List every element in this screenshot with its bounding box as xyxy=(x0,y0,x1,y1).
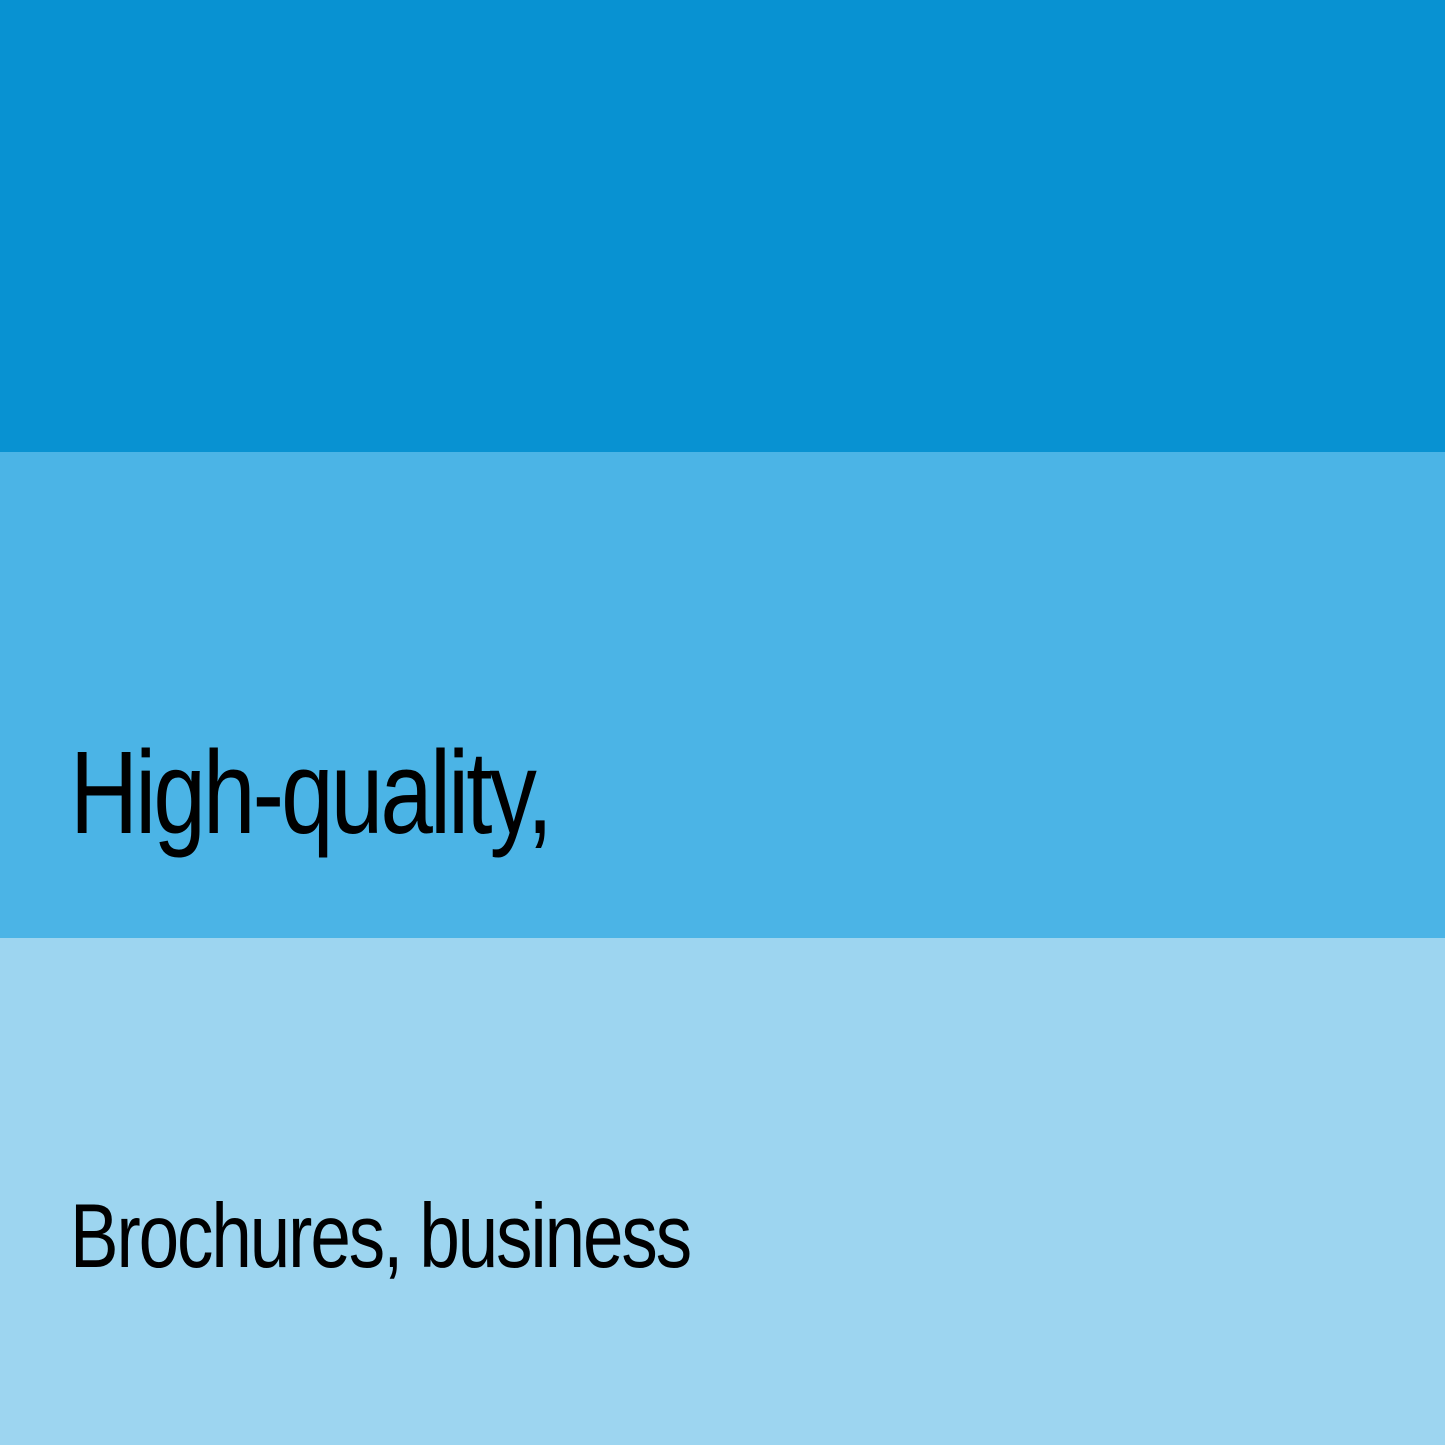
subheadline-line-1: High-quality, xyxy=(70,734,740,852)
headline-line-1: Perfect for xyxy=(70,434,730,452)
detail-band: Brochures, business documents, presentat… xyxy=(0,938,1445,1445)
detail-line-1: Brochures, business xyxy=(70,1188,854,1285)
detail-text: Brochures, business documents, presentat… xyxy=(70,994,854,1445)
headline-band: Perfect for home office xyxy=(0,0,1445,452)
promo-poster: Perfect for home office High-quality, bl… xyxy=(0,0,1445,1445)
headline-text: Perfect for home office xyxy=(70,24,730,452)
subheadline-band: High-quality, black-and-white everyday p… xyxy=(0,452,1445,938)
subheadline-text: High-quality, black-and-white everyday p… xyxy=(70,498,740,938)
